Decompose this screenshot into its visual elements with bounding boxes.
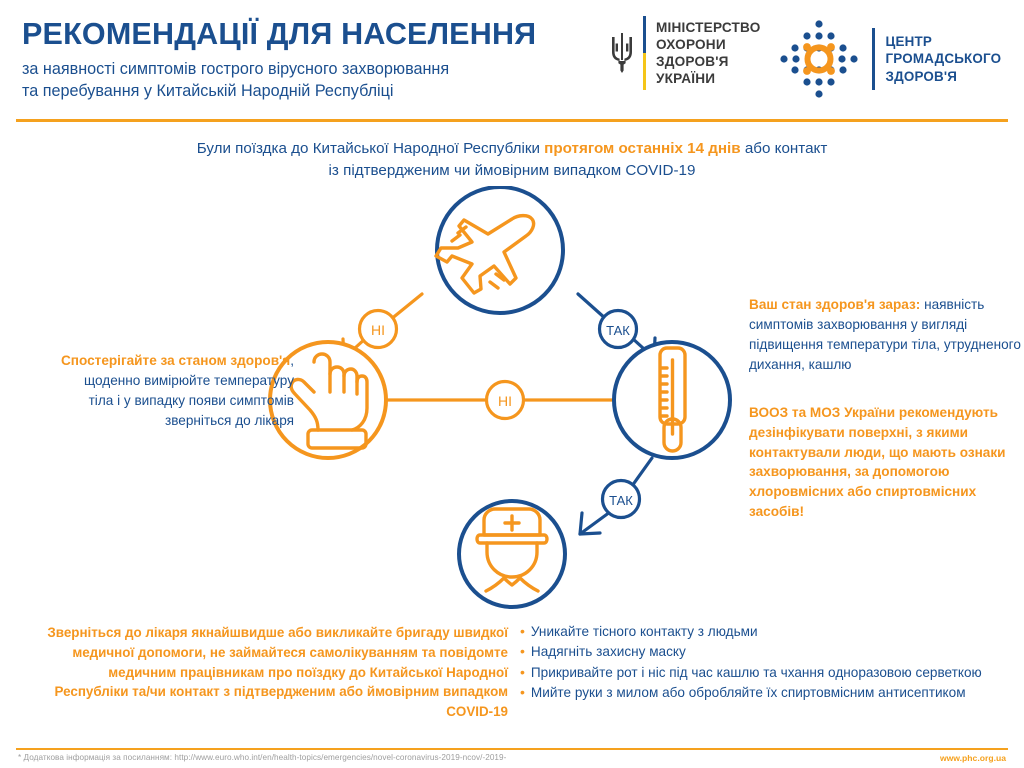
- edge-label-no-1: НІ: [371, 322, 385, 338]
- moz-line-1: МІНІСТЕРСТВО: [656, 19, 761, 36]
- header-divider: [16, 119, 1008, 122]
- list-item: • Надягніть захисну маску: [520, 642, 1010, 661]
- bullet-icon: •: [520, 663, 525, 682]
- intro-line-2: із підтвердженим чи ймовірним випадком C…: [329, 162, 696, 179]
- list-item-label: Мийте руки з милом або обробляйте їх спи…: [531, 683, 1010, 702]
- flow-node-doctor[interactable]: [459, 501, 565, 607]
- right-note-health-status: Ваш стан здоров'я зараз: наявність симпт…: [749, 295, 1021, 374]
- cph-logo-text: ЦЕНТР ГРОМАДСЬКОГО ЗДОРОВ'Я: [886, 33, 1002, 85]
- page-subtitle: за наявності симптомів гострого вірусног…: [22, 58, 602, 103]
- bottom-call-doctor-note: Зверніться до лікаря якнайшвидше або вик…: [46, 623, 508, 722]
- subtitle-line-1: за наявності симптомів гострого вірусног…: [22, 58, 602, 80]
- edge-label-yes-1: ТАК: [606, 323, 630, 338]
- public-health-center-dots-icon: [776, 16, 862, 102]
- list-item-label: Надягніть захисну маску: [531, 642, 1010, 661]
- footer-source-note: * Додаткова інформація за посиланням: ht…: [18, 753, 506, 762]
- left-note: Спостерігайте за станом здоров'я, щоденн…: [56, 351, 294, 430]
- list-item: • Прикривайте рот і ніс під час кашлю та…: [520, 663, 1010, 682]
- intro-highlight: протягом останніх 14 днів: [544, 140, 740, 157]
- intro-text: Були поїздка до Китайської Народної Респ…: [152, 138, 872, 182]
- tryzub-coat-of-arms-icon: [608, 32, 636, 74]
- right-note-1-highlight: Ваш стан здоров'я зараз:: [749, 297, 920, 312]
- ministry-of-health-logo: МІНІСТЕРСТВО ОХОРОНИ ЗДОРОВ'Я УКРАЇНИ: [608, 16, 761, 90]
- cph-line-2: ГРОМАДСЬКОГО: [886, 50, 1002, 67]
- page-title: РЕКОМЕНДАЦІЇ ДЛЯ НАСЕЛЕННЯ: [22, 18, 602, 50]
- moz-line-3: ЗДОРОВ'Я: [656, 53, 761, 70]
- bullet-icon: •: [520, 683, 525, 702]
- bullet-icon: •: [520, 642, 525, 661]
- left-note-highlight: Спостерігайте за станом здоров'я: [61, 353, 290, 368]
- edge-thermometer-to-hand: НІ: [360, 382, 630, 419]
- footer-website-link[interactable]: www.phc.org.ua: [940, 753, 1006, 763]
- intro-part-2: або контакт: [741, 140, 828, 157]
- prevention-bullet-list: • Уникайте тісного контакту з людьми • Н…: [520, 622, 1010, 703]
- list-item-label: Уникайте тісного контакту з людьми: [531, 622, 1010, 641]
- moz-flag-bar: [643, 16, 646, 90]
- subtitle-line-2: та перебування у Китайській Народній Рес…: [22, 80, 602, 102]
- header: РЕКОМЕНДАЦІЇ ДЛЯ НАСЕЛЕННЯ за наявності …: [0, 0, 1024, 118]
- cph-divider-bar: [872, 28, 875, 90]
- list-item-label: Прикривайте рот і ніс під час кашлю та ч…: [531, 663, 1010, 682]
- edge-label-yes-2: ТАК: [609, 493, 633, 508]
- moz-line-4: УКРАЇНИ: [656, 70, 761, 87]
- cph-line-1: ЦЕНТР: [886, 33, 1002, 50]
- list-item: • Мийте руки з милом або обробляйте їх с…: [520, 683, 1010, 702]
- flow-node-plane[interactable]: [436, 187, 563, 313]
- title-block: РЕКОМЕНДАЦІЇ ДЛЯ НАСЕЛЕННЯ за наявності …: [22, 18, 602, 103]
- moz-line-2: ОХОРОНИ: [656, 36, 761, 53]
- bullet-icon: •: [520, 622, 525, 641]
- flow-svg: НІ ТАК НІ: [240, 186, 760, 616]
- cph-line-3: ЗДОРОВ'Я: [886, 68, 1002, 85]
- infographic-page: РЕКОМЕНДАЦІЇ ДЛЯ НАСЕЛЕННЯ за наявності …: [0, 0, 1024, 768]
- edge-thermometer-to-doctor: ТАК: [580, 458, 652, 534]
- flow-node-thermometer[interactable]: [614, 342, 730, 458]
- right-note-disinfection: ВООЗ та МОЗ України рекомендують дезінфі…: [749, 403, 1024, 522]
- public-health-center-logo: ЦЕНТР ГРОМАДСЬКОГО ЗДОРОВ'Я: [776, 16, 1001, 102]
- footer-divider: [16, 748, 1008, 750]
- list-item: • Уникайте тісного контакту з людьми: [520, 622, 1010, 641]
- decision-flow-diagram: НІ ТАК НІ: [240, 186, 760, 616]
- moz-logo-text: МІНІСТЕРСТВО ОХОРОНИ ЗДОРОВ'Я УКРАЇНИ: [656, 19, 761, 88]
- intro-part-1: Були поїздка до Китайської Народної Респ…: [197, 140, 544, 157]
- edge-label-no-2: НІ: [498, 393, 512, 409]
